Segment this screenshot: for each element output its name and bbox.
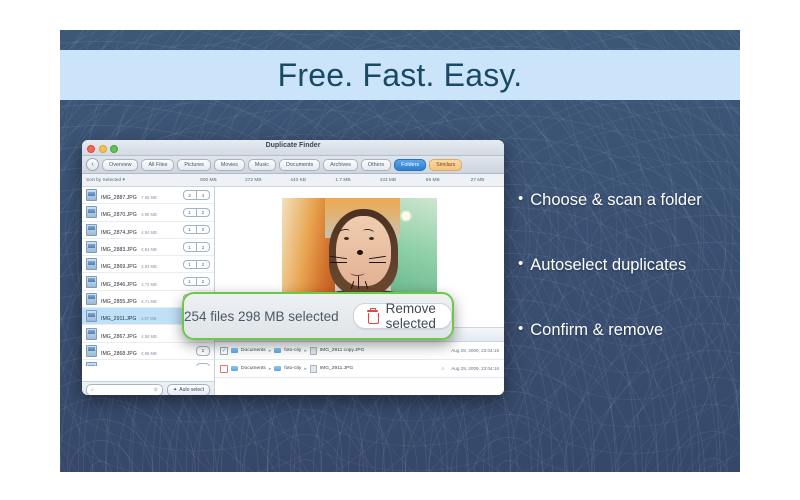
file-name: IMG_2874.JPG (101, 230, 137, 236)
search-input[interactable]: ⌕ ⊗ (86, 384, 163, 395)
chevron-down-icon: ▾ (123, 178, 125, 183)
row-checkbox-checked[interactable]: ✓ (220, 347, 228, 355)
tab-overview[interactable]: Overview (102, 159, 138, 171)
duplicate-file-name: IMG_2911 copy.JPG (320, 348, 365, 353)
auto-select-label: Auto select (179, 387, 204, 393)
feature-bullet: •Choose & scan a folder (518, 190, 740, 210)
badge-selected: 1 (183, 242, 197, 252)
feature-bullet-list: •Choose & scan a folder •Autoselect dupl… (518, 190, 740, 385)
path-separator-icon: ▸ (269, 348, 271, 354)
row-checkbox-unchecked[interactable] (220, 365, 228, 373)
image-file-icon (86, 345, 97, 357)
file-name: IMG_2870.JPG (101, 212, 137, 218)
list-item[interactable]: IMG_2854.JPG 4.52 MB 2 (82, 360, 214, 366)
size-value: 440 KB (276, 178, 321, 183)
wand-icon: ✦ (173, 387, 177, 393)
table-row[interactable]: ✓ Documents ▸ foto-city ▸ IMG_2911 copy.… (215, 342, 504, 360)
photo-whisker (369, 262, 386, 263)
image-file-icon (86, 189, 97, 201)
image-file-icon (86, 258, 97, 270)
list-item[interactable]: IMG_2870.JPG 4.95 MB 1 2 (82, 204, 214, 221)
selection-callout: 254 files 298 MB selected Remove selecte… (182, 292, 454, 340)
list-item[interactable]: IMG_2874.JPG 4.84 MB 1 2 (82, 222, 214, 239)
image-file-icon (86, 241, 97, 253)
back-button[interactable]: ‹ (86, 158, 99, 171)
duplicate-count-badges: 3 4 (183, 190, 210, 200)
file-list-footer: ⌕ ⊗ ✦ Auto select (82, 381, 214, 395)
file-name: IMG_2867.JPG (101, 334, 137, 340)
image-file-icon (86, 328, 97, 340)
tab-all-files[interactable]: All Files (141, 159, 174, 171)
feature-bullet: •Confirm & remove (518, 320, 740, 340)
file-icon (310, 347, 317, 355)
duplicate-count-badges: 1 2 (183, 260, 210, 270)
window-body: IMG_2887.JPG 7.65 MB 3 4 IMG_2870.JPG 4.… (82, 187, 504, 395)
duplicate-count-badges: 2 (197, 346, 211, 356)
duplicate-count-badges: 2 (197, 363, 211, 366)
file-size: 4.58 MB (141, 351, 157, 356)
file-size: 4.71 MB (141, 299, 157, 304)
tab-folders[interactable]: Folders (394, 159, 426, 171)
tab-pictures[interactable]: Pictures (177, 159, 210, 171)
feature-bullet-label: Confirm & remove (530, 321, 663, 339)
detail-panel: Auto select ▾ Deselect all ✓ Documents ▸… (215, 187, 504, 395)
folder-icon (274, 366, 281, 372)
feature-bullet-label: Autoselect duplicates (530, 256, 686, 274)
bullet-dot-icon: • (518, 320, 523, 337)
path-segment: foto-city (284, 348, 301, 353)
image-file-icon (86, 310, 97, 322)
list-item[interactable]: IMG_2887.JPG 7.65 MB 3 4 (82, 187, 214, 204)
table-row[interactable]: Documents ▸ foto-city ▸ IMG_2911.JPG ⌕ A… (215, 360, 504, 378)
duplicate-count-badges: 1 2 (183, 225, 210, 235)
size-value: 27 MB (455, 178, 500, 183)
trash-icon (367, 310, 378, 323)
image-file-icon (86, 224, 97, 236)
duplicate-count-badges: 1 2 (183, 277, 210, 287)
tab-similars[interactable]: Similars (429, 159, 462, 171)
list-item[interactable]: IMG_2846.JPG 4.73 MB 1 2 (82, 273, 214, 290)
size-value: 272 MB (231, 178, 276, 183)
badge-total: 2 (196, 260, 210, 270)
file-size: 4.58 MB (141, 334, 157, 339)
file-name: IMG_2868.JPG (101, 351, 137, 357)
path-separator-icon: ▸ (269, 366, 271, 372)
remove-selected-label: Remove selected (386, 301, 438, 331)
badge-selected: 1 (183, 260, 197, 270)
file-size: 4.84 MB (141, 230, 157, 235)
size-values: 800 MB 272 MB 440 KB 1.7 MB 433 MB 66 MB… (186, 178, 500, 183)
photo-whisker (330, 262, 347, 263)
tab-archives[interactable]: Archives (323, 159, 358, 171)
file-name: IMG_2887.JPG (101, 195, 137, 201)
badge-total: 2 (196, 363, 210, 366)
promo-frame: Free. Fast. Easy. •Choose & scan a folde… (60, 30, 740, 472)
path-separator-icon: ▸ (304, 348, 306, 354)
category-size-row: Sort by Selected ▾ 800 MB 272 MB 440 KB … (82, 174, 504, 187)
sort-by-label: Sort by Selected (86, 178, 121, 183)
list-item[interactable]: IMG_2869.JPG 4.83 MB 1 2 (82, 256, 214, 273)
size-value: 66 MB (410, 178, 455, 183)
badge-total: 2 (196, 208, 210, 218)
image-file-icon (86, 362, 97, 366)
app-window: Duplicate Finder ‹ Overview All Files Pi… (82, 140, 504, 395)
badge-total: 2 (196, 346, 210, 356)
size-value: 1.7 MB (321, 178, 366, 183)
photo-mouth (350, 269, 365, 276)
file-icon (310, 365, 317, 373)
window-titlebar[interactable]: Duplicate Finder (82, 140, 504, 156)
bullet-dot-icon: • (518, 190, 523, 207)
tab-movies[interactable]: Movies (214, 159, 245, 171)
duplicate-count-badges: 1 2 (183, 208, 210, 218)
sort-by-control[interactable]: Sort by Selected ▾ (86, 178, 125, 183)
badge-total: 2 (196, 225, 210, 235)
file-list-panel: IMG_2887.JPG 7.65 MB 3 4 IMG_2870.JPG 4.… (82, 187, 215, 395)
tab-others[interactable]: Others (361, 159, 391, 171)
folder-icon (274, 348, 281, 354)
file-size: 4.95 MB (141, 212, 157, 217)
image-file-icon (86, 206, 97, 218)
size-value: 800 MB (186, 178, 231, 183)
image-file-icon (86, 293, 97, 305)
photo-eye-right (369, 237, 374, 240)
badge-selected: 1 (183, 277, 197, 287)
size-value: 433 MB (365, 178, 410, 183)
remove-selected-button[interactable]: Remove selected (353, 303, 452, 329)
badge-selected: 1 (183, 225, 197, 235)
clear-search-icon[interactable]: ⊗ (153, 387, 158, 393)
bullet-dot-icon: • (518, 255, 523, 272)
reveal-in-finder-icon[interactable]: ⌕ (441, 366, 444, 372)
folder-icon (231, 366, 238, 372)
photo-lamp (400, 210, 412, 222)
path-segment: foto-city (284, 366, 301, 371)
page-title: Free. Fast. Easy. (278, 57, 523, 94)
file-size: 4.83 MB (141, 264, 157, 269)
file-date: Aug 28, 2009, 23:04:16 (451, 366, 499, 371)
window-title: Duplicate Finder (82, 142, 504, 149)
file-name: IMG_2869.JPG (101, 264, 137, 270)
auto-select-button[interactable]: ✦ Auto select (167, 384, 210, 395)
badge-selected: 3 (183, 190, 197, 200)
file-name: IMG_2883.JPG (101, 247, 137, 253)
path-segment: Documents (241, 366, 266, 371)
badge-total: 4 (196, 190, 210, 200)
badge-total: 2 (196, 242, 210, 252)
path-segment: Documents (241, 348, 266, 353)
photo-eye-left (344, 237, 349, 240)
duplicate-count-badges: 1 2 (183, 242, 210, 252)
selection-summary: 254 files 298 MB selected (184, 309, 339, 324)
file-name: IMG_2911.JPG (101, 316, 136, 322)
tab-documents[interactable]: Documents (279, 159, 320, 171)
duplicate-file-name: IMG_2911.JPG (320, 366, 353, 371)
list-item[interactable]: IMG_2883.JPG 4.84 MB 1 2 (82, 239, 214, 256)
file-date: Aug 28, 2009, 23:04:16 (451, 348, 499, 353)
folder-icon (231, 348, 238, 354)
file-size: 4.73 MB (141, 282, 157, 287)
badge-selected: 1 (183, 208, 197, 218)
tab-bar: ‹ Overview All Files Pictures Movies Mus… (82, 156, 504, 174)
feature-bullet: •Autoselect duplicates (518, 255, 740, 275)
image-file-icon (86, 276, 97, 288)
tab-music[interactable]: Music (248, 159, 276, 171)
photo-face (336, 216, 390, 287)
feature-bullet-label: Choose & scan a folder (530, 191, 702, 209)
photo-chin-line (358, 276, 359, 289)
path-separator-icon: ▸ (304, 366, 306, 372)
file-name: IMG_2855.JPG (101, 299, 137, 305)
file-size: 4.67 MB (141, 316, 157, 321)
badge-total: 2 (196, 277, 210, 287)
list-item[interactable]: IMG_2868.JPG 4.58 MB 2 (82, 343, 214, 360)
file-name: IMG_2846.JPG (101, 282, 137, 288)
headline-band: Free. Fast. Easy. (60, 50, 740, 100)
search-icon: ⌕ (91, 387, 94, 393)
file-size: 7.65 MB (141, 195, 157, 200)
file-size: 4.84 MB (141, 247, 157, 252)
